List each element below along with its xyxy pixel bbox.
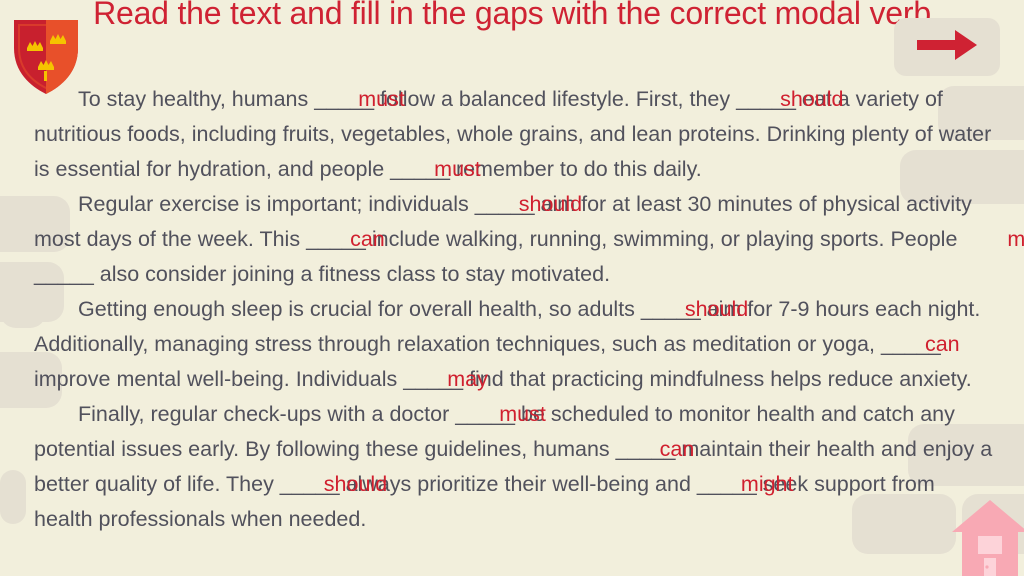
slide-canvas: Read the text and fill in the gaps with … — [0, 0, 1024, 576]
passage-text-run: remember to do this daily. — [450, 157, 702, 181]
shield-icon — [10, 14, 82, 96]
passage-text-run: follow a balanced lifestyle. First, they — [374, 87, 736, 111]
passage-text-run: find that practicing mindfulness helps r… — [463, 367, 972, 391]
next-button[interactable] — [894, 18, 1000, 76]
passage-paragraph: Finally, regular check-ups with a doctor… — [34, 397, 996, 537]
passage-text-run: include walking, running, swimming, or p… — [366, 227, 964, 251]
passage-text-run: always prioritize their well-being and — [340, 472, 697, 496]
gap-blank[interactable]: _____ — [34, 262, 94, 286]
passage-text: To stay healthy, humans must_____ follow… — [34, 82, 996, 537]
passage-text-run: improve mental well-being. Individuals — [34, 367, 403, 391]
passage-text-run: Finally, regular check-ups with a doctor — [78, 402, 455, 426]
passage-paragraph: Regular exercise is important; individua… — [34, 187, 996, 292]
passage-text-run: Regular exercise is important; individua… — [78, 192, 475, 216]
passage-paragraph: Getting enough sleep is crucial for over… — [34, 292, 996, 397]
decor-block — [0, 470, 26, 524]
passage-text-run: To stay healthy, humans — [78, 87, 314, 111]
arrow-right-icon — [915, 27, 979, 68]
passage-text-run: Getting enough sleep is crucial for over… — [78, 297, 641, 321]
passage-text-run: also consider joining a fitness class to… — [94, 262, 610, 286]
passage-paragraph: To stay healthy, humans must_____ follow… — [34, 82, 996, 187]
page-title: Read the text and fill in the gaps with … — [76, 0, 948, 34]
